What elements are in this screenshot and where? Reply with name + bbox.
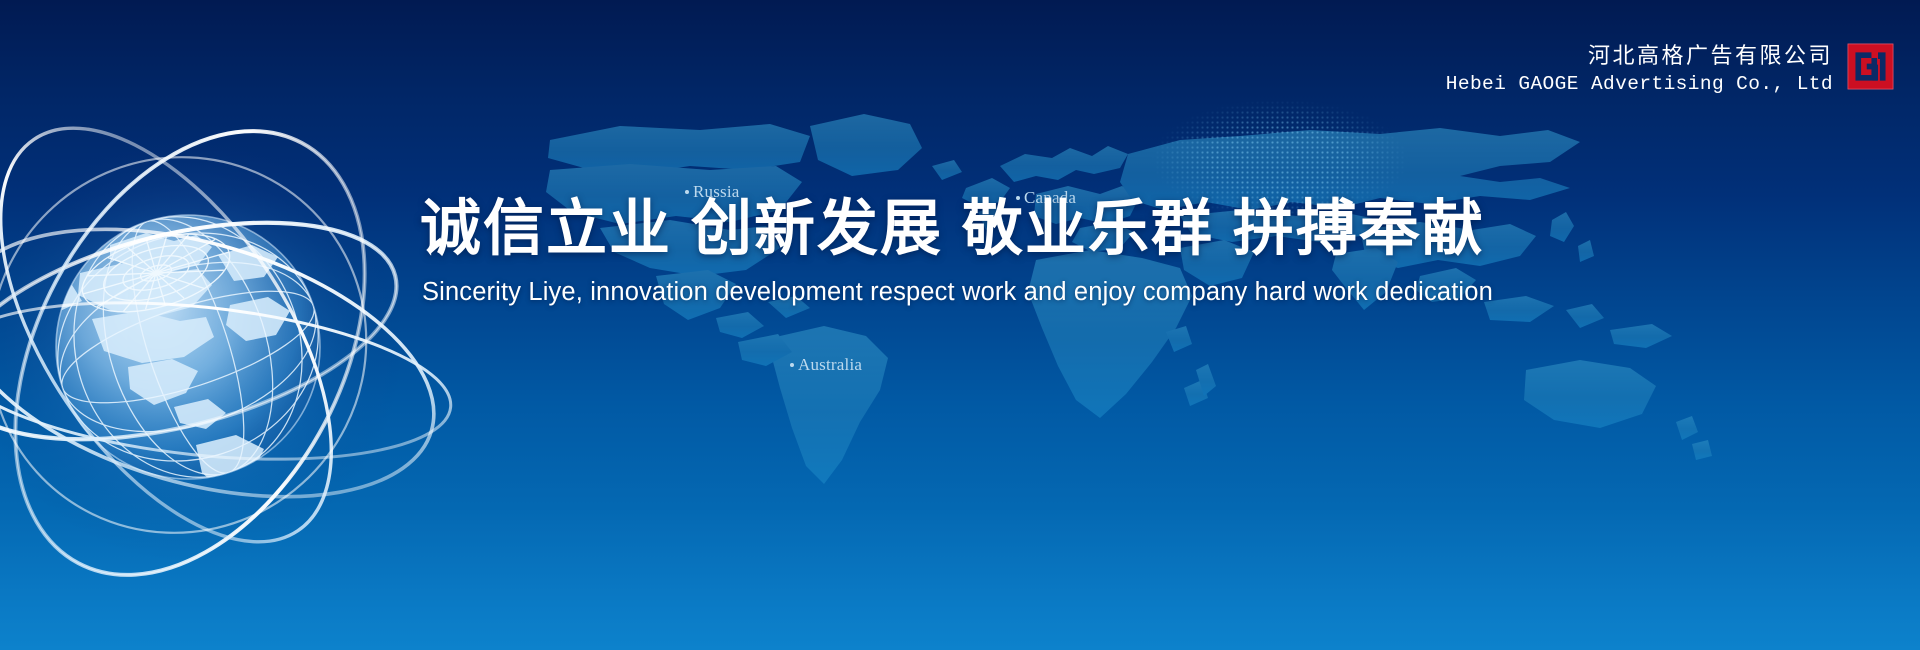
orbiting-globe-icon xyxy=(0,95,430,565)
map-marker-dot-icon xyxy=(790,363,794,367)
slogan-headline: 诚信立业 创新发展 敬业乐群 拼搏奉献 xyxy=(420,196,1480,260)
company-name-cn: 河北高格广告有限公司 xyxy=(1446,38,1833,70)
slogan-block: 诚信立业 创新发展 敬业乐群 拼搏奉献 Sincerity Liye, inno… xyxy=(420,196,1480,307)
slogan-tagline: Sincerity Liye, innovation development r… xyxy=(422,278,1480,307)
company-identity[interactable]: 河北高格广告有限公司 Hebei GAOGE Advertising Co., … xyxy=(1446,38,1894,95)
gaoge-square-logo-icon[interactable] xyxy=(1847,43,1894,90)
company-name-en: Hebei GAOGE Advertising Co., Ltd xyxy=(1446,73,1833,95)
company-banner: Russia Canada Australia xyxy=(0,0,1920,650)
company-name-group: 河北高格广告有限公司 Hebei GAOGE Advertising Co., … xyxy=(1446,38,1833,95)
map-label-australia: Australia xyxy=(790,355,862,375)
